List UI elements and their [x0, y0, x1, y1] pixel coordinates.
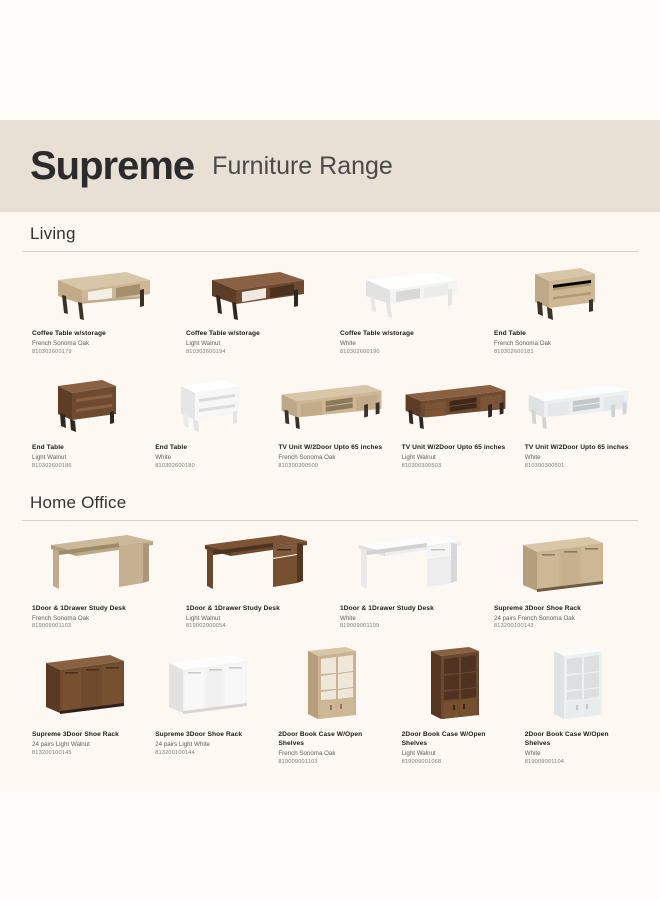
product-finish: Light Walnut — [186, 340, 322, 349]
product-card[interactable]: 2Door Book Case W/Open Shelves White 819… — [515, 641, 638, 776]
product-sku: 819009001103 — [32, 623, 168, 631]
product-sku: 810302600194 — [186, 349, 322, 357]
product-label: End Table Light Walnut 810302600186 — [26, 440, 141, 480]
product-card[interactable]: 1Door & 1Drawer Study Desk Light Walnut … — [176, 521, 330, 641]
product-card[interactable]: End Table Light Walnut 810302600186 — [22, 366, 145, 480]
product-label: 2Door Book Case W/Open Shelves Light Wal… — [396, 727, 511, 776]
product-finish: French Sonoma Oak — [32, 615, 168, 624]
product-image-end-table-walnut — [26, 366, 141, 440]
product-name: End Table — [32, 444, 137, 453]
page-top-margin — [0, 0, 660, 120]
product-card[interactable]: Supreme 3Door Shoe Rack 24 pairs Light W… — [145, 641, 268, 776]
product-row-office-1: 1Door & 1Drawer Study Desk French Sonoma… — [22, 521, 638, 641]
product-finish: 24 pairs Light White — [155, 741, 260, 750]
product-image-shoe-rack-white — [149, 641, 264, 727]
product-label: Coffee Table w/storage French Sonoma Oak… — [26, 326, 172, 366]
product-image-study-desk-walnut — [180, 521, 326, 601]
product-label: End Table White 810302600180 — [149, 440, 264, 480]
product-sku: 810300300503 — [402, 463, 507, 471]
brand-banner: Supreme Furniture Range — [0, 120, 660, 212]
product-sku: 810302600179 — [32, 349, 168, 357]
product-label: 1Door & 1Drawer Study Desk White 8190090… — [334, 601, 480, 641]
product-finish: White — [340, 615, 476, 624]
product-image-tv-unit-oak — [272, 366, 387, 440]
product-finish: Light Walnut — [402, 454, 507, 463]
product-sku: 819002000054 — [186, 623, 322, 631]
product-card[interactable]: Coffee Table w/storage White 81030260019… — [330, 252, 484, 366]
product-name: 2Door Book Case W/Open Shelves — [278, 731, 383, 749]
product-label: TV Unit W/2Door Upto 65 inches White 810… — [519, 440, 634, 480]
product-image-study-desk-oak — [26, 521, 172, 601]
product-row-living-2: End Table Light Walnut 810302600186 — [22, 366, 638, 480]
product-label: Supreme 3Door Shoe Rack 24 pairs Light W… — [149, 727, 264, 767]
product-image-coffee-table-walnut — [180, 252, 326, 326]
product-image-shoe-rack-oak — [488, 521, 634, 601]
section-title-home-office: Home Office — [22, 481, 638, 521]
product-card[interactable]: TV Unit W/2Door Upto 65 inches French So… — [268, 366, 391, 480]
page-title: Supreme — [30, 146, 194, 186]
product-card[interactable]: 1Door & 1Drawer Study Desk White 8190090… — [330, 521, 484, 641]
product-name: 2Door Book Case W/Open Shelves — [402, 731, 507, 749]
product-card[interactable]: Coffee Table w/storage French Sonoma Oak… — [22, 252, 176, 366]
product-sku: 810302600190 — [340, 349, 476, 357]
product-image-book-case-white — [519, 641, 634, 727]
product-sku: 810302600180 — [155, 463, 260, 471]
product-finish: White — [525, 750, 630, 759]
product-name: TV Unit W/2Door Upto 65 inches — [525, 444, 630, 453]
product-label: 1Door & 1Drawer Study Desk Light Walnut … — [180, 601, 326, 641]
product-label: Supreme 3Door Shoe Rack 24 pairs Light W… — [26, 727, 141, 767]
product-sku: 813200100143 — [494, 623, 630, 631]
product-finish: French Sonoma Oak — [32, 340, 168, 349]
product-sku: 810302600186 — [32, 463, 137, 471]
product-label: End Table French Sonoma Oak 810302600181 — [488, 326, 634, 366]
product-image-shoe-rack-walnut — [26, 641, 141, 727]
product-name: 2Door Book Case W/Open Shelves — [525, 731, 630, 749]
product-label: 2Door Book Case W/Open Shelves White 819… — [519, 727, 634, 776]
product-name: 1Door & 1Drawer Study Desk — [186, 605, 322, 614]
product-image-book-case-oak — [272, 641, 387, 727]
product-finish: 24 pairs Light Walnut — [32, 741, 137, 750]
product-label: 2Door Book Case W/Open Shelves French So… — [272, 727, 387, 776]
product-sku: 810300300500 — [278, 463, 383, 471]
product-finish: Light Walnut — [32, 454, 137, 463]
product-card[interactable]: Coffee Table w/storage Light Walnut 8103… — [176, 252, 330, 366]
product-finish: French Sonoma Oak — [494, 340, 630, 349]
product-name: Supreme 3Door Shoe Rack — [32, 731, 137, 740]
page-subtitle: Furniture Range — [212, 154, 393, 179]
product-image-end-table-white — [149, 366, 264, 440]
catalog-content: Living Cof — [0, 212, 660, 792]
product-name: Coffee Table w/storage — [186, 330, 322, 339]
product-card[interactable]: Supreme 3Door Shoe Rack 24 pairs Light W… — [22, 641, 145, 776]
product-label: 1Door & 1Drawer Study Desk French Sonoma… — [26, 601, 172, 641]
product-image-book-case-walnut — [396, 641, 511, 727]
product-card[interactable]: 1Door & 1Drawer Study Desk French Sonoma… — [22, 521, 176, 641]
product-sku: 813200100145 — [32, 750, 137, 758]
product-name: 1Door & 1Drawer Study Desk — [340, 605, 476, 614]
product-label: Supreme 3Door Shoe Rack 24 pairs French … — [488, 601, 634, 641]
product-name: End Table — [494, 330, 630, 339]
product-name: 1Door & 1Drawer Study Desk — [32, 605, 168, 614]
product-row-living-1: Coffee Table w/storage French Sonoma Oak… — [22, 252, 638, 366]
product-finish: Light Walnut — [402, 750, 507, 759]
product-name: Coffee Table w/storage — [340, 330, 476, 339]
product-image-coffee-table-white — [334, 252, 480, 326]
product-image-end-table-oak — [488, 252, 634, 326]
product-name: End Table — [155, 444, 260, 453]
product-card[interactable]: 2Door Book Case W/Open Shelves Light Wal… — [392, 641, 515, 776]
product-finish: 24 pairs French Sonoma Oak — [494, 615, 630, 624]
product-label: Coffee Table w/storage White 81030260019… — [334, 326, 480, 366]
product-card[interactable]: TV Unit W/2Door Upto 65 inches Light Wal… — [392, 366, 515, 480]
product-finish: Light Walnut — [186, 615, 322, 624]
product-finish: White — [525, 454, 630, 463]
section-title-living: Living — [22, 212, 638, 252]
product-sku: 819009001109 — [340, 623, 476, 631]
product-image-study-desk-white — [334, 521, 480, 601]
product-sku: 810302600181 — [494, 349, 630, 357]
catalog-page: Supreme Furniture Range Living — [0, 0, 660, 900]
product-card[interactable]: 2Door Book Case W/Open Shelves French So… — [268, 641, 391, 776]
product-finish: French Sonoma Oak — [278, 454, 383, 463]
product-card[interactable]: End Table French Sonoma Oak 810302600181 — [484, 252, 638, 366]
product-sku: 813200100144 — [155, 750, 260, 758]
product-label: Coffee Table w/storage Light Walnut 8103… — [180, 326, 326, 366]
product-row-office-2: Supreme 3Door Shoe Rack 24 pairs Light W… — [22, 641, 638, 776]
page-bottom-margin — [0, 792, 660, 900]
product-card[interactable]: Supreme 3Door Shoe Rack 24 pairs French … — [484, 521, 638, 641]
product-card[interactable]: TV Unit W/2Door Upto 65 inches White 810… — [515, 366, 638, 480]
product-finish: French Sonoma Oak — [278, 750, 383, 759]
product-label: TV Unit W/2Door Upto 65 inches Light Wal… — [396, 440, 511, 480]
product-card[interactable]: End Table White 810302600180 — [145, 366, 268, 480]
product-name: Supreme 3Door Shoe Rack — [155, 731, 260, 740]
product-sku: 810300300501 — [525, 463, 630, 471]
product-name: Supreme 3Door Shoe Rack — [494, 605, 630, 614]
product-sku: 819009001068 — [402, 759, 507, 767]
product-sku: 819009001103 — [278, 759, 383, 767]
product-image-tv-unit-walnut — [396, 366, 511, 440]
product-label: TV Unit W/2Door Upto 65 inches French So… — [272, 440, 387, 480]
product-finish: White — [340, 340, 476, 349]
product-name: TV Unit W/2Door Upto 65 inches — [278, 444, 383, 453]
product-name: TV Unit W/2Door Upto 65 inches — [402, 444, 507, 453]
product-image-tv-unit-white — [519, 366, 634, 440]
product-name: Coffee Table w/storage — [32, 330, 168, 339]
product-finish: White — [155, 454, 260, 463]
product-sku: 819009001104 — [525, 759, 630, 767]
product-image-coffee-table-oak — [26, 252, 172, 326]
